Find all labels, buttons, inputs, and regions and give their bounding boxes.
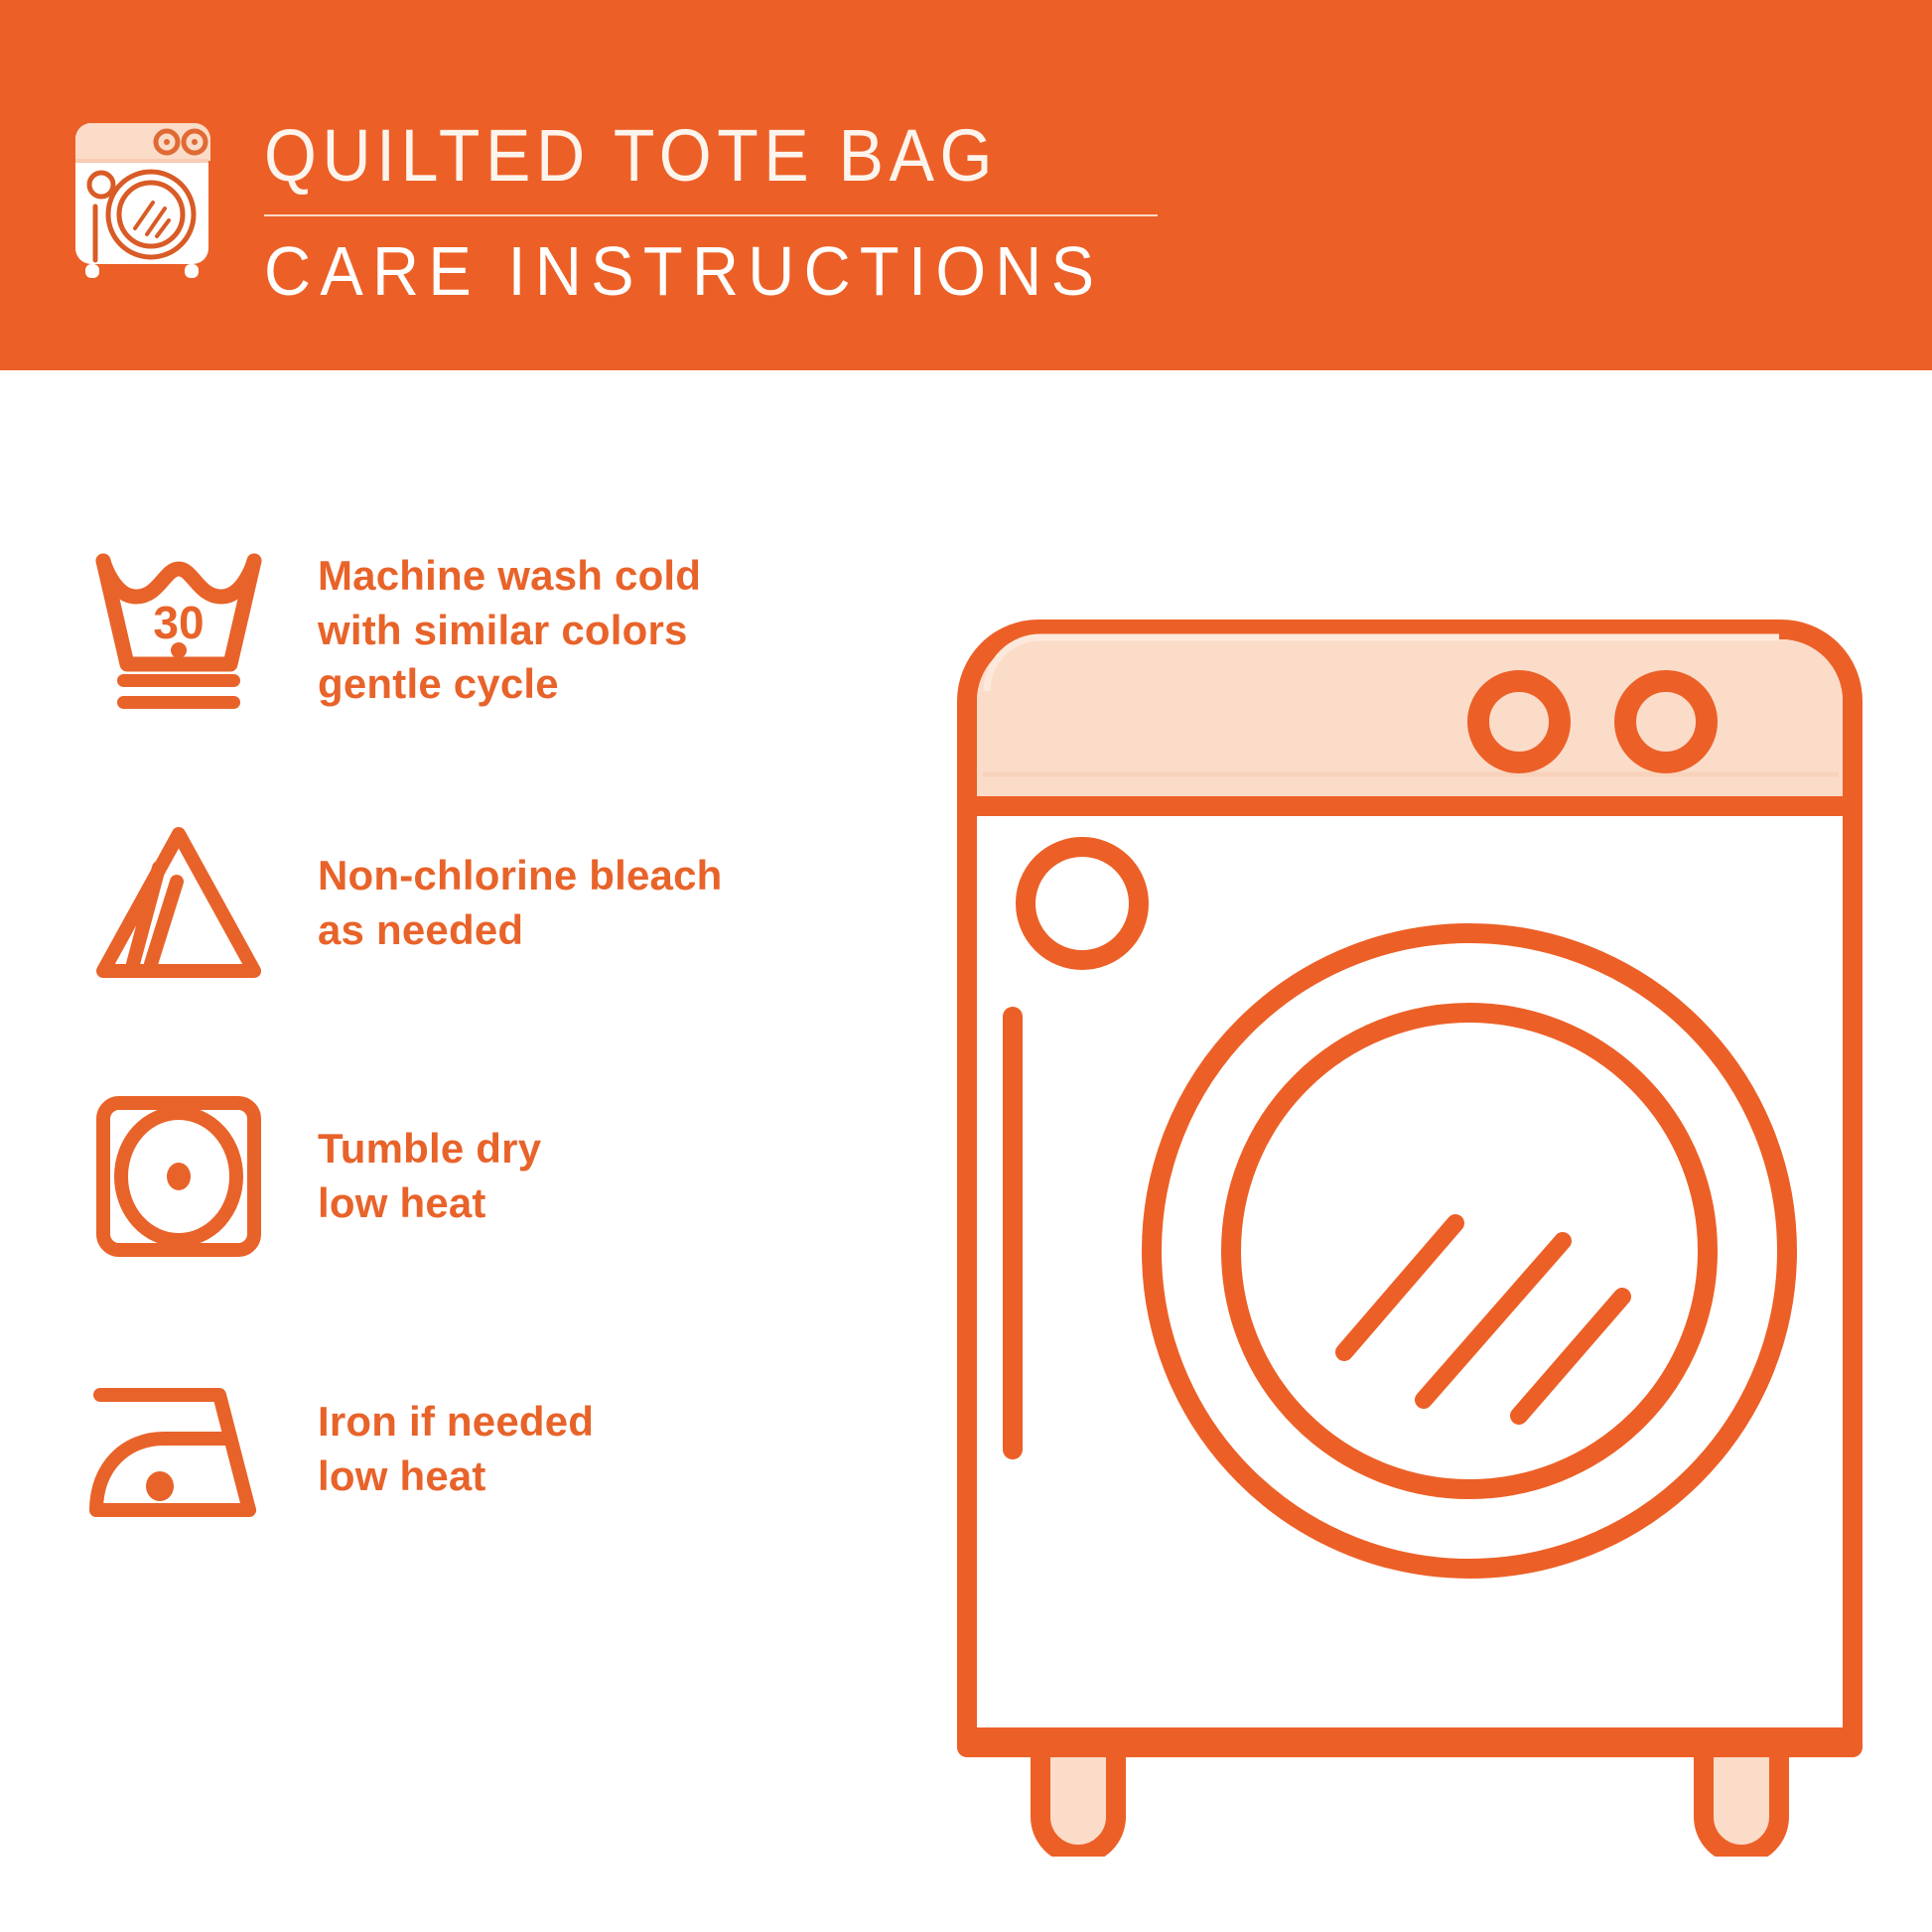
front-load-washing-machine-illustration [953,616,1866,1857]
title-divider [264,214,1158,216]
page-title: QUILTED TOTE BAG [264,119,1094,193]
care-row-machine-wash: 30 Machine wash cold with similar colors… [79,536,894,725]
control-panel-divider [967,796,1853,816]
machine-wash-30-gentle-icon: 30 [79,536,278,725]
wash-temperature-label: 30 [153,597,204,648]
header-banner: QUILTED TOTE BAG CARE INSTRUCTIONS [0,0,1932,370]
leg-right [1704,1747,1779,1855]
iron-low-heat-icon [79,1355,278,1544]
washing-machine-icon [69,111,216,280]
page-subtitle: CARE INSTRUCTIONS [264,236,1103,306]
care-label-tumble-dry: Tumble dry low heat [318,1122,541,1230]
non-chlorine-bleach-triangle-icon [79,809,278,998]
care-instructions-list: 30 Machine wash cold with similar colors… [79,536,894,1544]
tumble-dry-low-icon [79,1082,278,1271]
care-label-bleach: Non-chlorine bleach as needed [318,849,723,957]
care-row-tumble-dry: Tumble dry low heat [79,1082,894,1271]
leg-left [1040,1747,1116,1855]
header-title-block: QUILTED TOTE BAG CARE INSTRUCTIONS [264,111,1167,306]
header-content: QUILTED TOTE BAG CARE INSTRUCTIONS [69,111,1167,306]
care-label-iron: Iron if needed low heat [318,1395,594,1503]
care-row-bleach: Non-chlorine bleach as needed [79,809,894,998]
care-row-iron: Iron if needed low heat [79,1355,894,1544]
care-label-machine-wash: Machine wash cold with similar colors ge… [318,549,701,712]
